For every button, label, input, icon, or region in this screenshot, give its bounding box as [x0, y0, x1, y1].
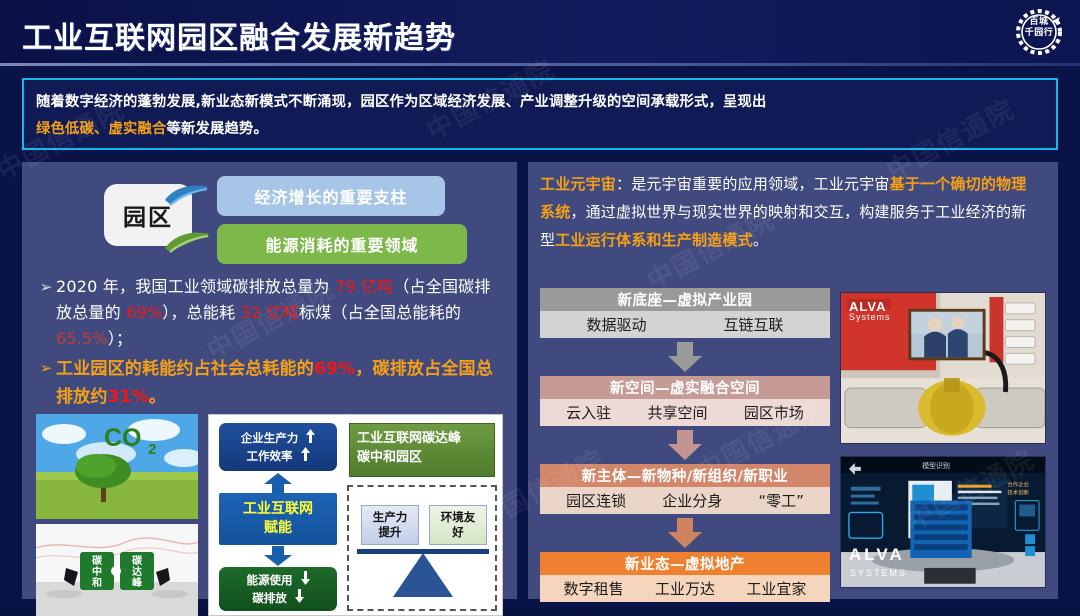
down-arrow-icon [295, 589, 304, 607]
up-arrow-icon [301, 447, 310, 465]
flow-stage-item: 园区市场 [744, 402, 804, 423]
flow-stage-item: 数据驱动 [586, 314, 646, 335]
logo-text: 百城 千园行 [1012, 17, 1066, 39]
flow-down-arrow-icon [668, 518, 702, 548]
svg-text:合作企业: 合作企业 [1007, 481, 1029, 489]
intro-callout: 随着数字经济的蓬勃发展,新业态新模式不断涌现，园区作为区域经济发展、产业调整升级… [22, 78, 1058, 150]
scale-fulcrum-icon [393, 553, 453, 597]
flow-stage-title: 新主体—新物种/新组织/新职业 [540, 464, 830, 487]
svg-text:碳: 碳 [92, 554, 103, 567]
flow-stage[interactable]: 新底座—虚拟产业园数据驱动互链互联 [540, 288, 830, 338]
flow-stage-item: 共享空间 [647, 402, 707, 423]
alva-brand-sub-top: Systems [849, 312, 891, 322]
diagram-box-iiot-enable: 工业互联网 赋能 [219, 493, 337, 545]
svg-text:技术创新: 技术创新 [1007, 489, 1029, 497]
svg-text:2: 2 [148, 441, 156, 458]
flow-down-arrow-icon [668, 430, 702, 460]
left-bullet-list: ➢ 2020 年，我国工业领域碳排放总量为 79 亿吨（占全国碳排放总量的 69… [36, 274, 506, 414]
diagram-box-productivity: 企业生产力 工作效率 [219, 423, 337, 471]
ar-valve-inspection-photo: ALVA Systems [840, 292, 1046, 444]
flow-stage[interactable]: 新业态—虚拟地产数字租售工业万达工业宜家 [540, 552, 830, 602]
intro-line-1: 随着数字经济的蓬勃发展,新业态新模式不断涌现，园区作为区域经济发展、产业调整升级… [36, 89, 1044, 116]
flow-stage-items: 云入驻共享空间园区市场 [540, 399, 830, 426]
flow-stage-item: 工业万达 [655, 578, 715, 599]
svg-text:中: 中 [92, 565, 102, 578]
flow-stage-items: 数据驱动互链互联 [540, 311, 830, 338]
intro-line-2: 绿色低碳、虚实融合等新发展趋势。 [36, 116, 1044, 143]
flow-stage[interactable]: 新主体—新物种/新组织/新职业园区连锁企业分身“零工” [540, 464, 830, 514]
alva-brand-sub-bot: SYSTEMS [850, 568, 907, 578]
bullet-text: 工业园区的耗能约占社会总耗能的69%，碳排放占全国总排放约31%。 [56, 355, 506, 411]
svg-text:CO: CO [104, 424, 142, 452]
svg-text:峰: 峰 [132, 576, 143, 589]
flow-stage-item: 互链互联 [723, 314, 783, 335]
bullet-item: ➢ 2020 年，我国工业领域碳排放总量为 79 亿吨（占全国碳排放总量的 69… [36, 274, 506, 352]
title-divider [0, 63, 1080, 66]
bullet-marker: ➢ [36, 274, 56, 352]
flow-stage-title: 新业态—虚拟地产 [540, 552, 830, 575]
green-leaf-icon [162, 228, 212, 254]
flow-stage-items: 园区连锁企业分身“零工” [540, 487, 830, 514]
tag-energy-consumption: 能源消耗的重要领域 [217, 224, 467, 264]
alva-brand-bot: ALVA [849, 545, 905, 565]
flow-stage-title: 新空间—虚实融合空间 [540, 376, 830, 399]
flow-down-arrow-icon [668, 342, 702, 372]
bullet-text: 2020 年，我国工业领域碳排放总量为 79 亿吨（占全国碳排放总量的 69%）… [56, 274, 506, 352]
carbon-puzzle-photo: 碳 中 和 碳 达 峰 [36, 524, 198, 616]
scale-box-productivity: 生产力 提升 [361, 505, 419, 545]
flow-stage-item: 数字租售 [564, 578, 624, 599]
left-panel: 园区 经济增长的重要支柱 能源消耗的重要领域 ➢ 2020 年，我国工业领域碳排… [22, 162, 517, 599]
co2-tree-photo: CO 2 [36, 414, 198, 519]
metaverse-flow-chart: 新底座—虚拟产业园数据驱动互链互联新空间—虚实融合空间云入驻共享空间园区市场新主… [540, 288, 830, 602]
flow-stage-item: 工业宜家 [746, 578, 806, 599]
ar-digital-twin-photo: 03 模型识别 合作企业 技术创新 ALVA SYSTEMS [840, 456, 1046, 588]
bullet-marker: ➢ [36, 355, 56, 411]
up-arrow-icon [306, 429, 315, 447]
balance-scale-area: 生产力 提升 环境友 好 [347, 485, 497, 611]
flow-stage-item: 企业分身 [662, 490, 722, 511]
scale-box-environment: 环境友 好 [429, 505, 487, 545]
flow-stage[interactable]: 新空间—虚实融合空间云入驻共享空间园区市场 [540, 376, 830, 426]
slide-header: 工业互联网园区融合发展新趋势 百城 千园行 [0, 0, 1080, 66]
svg-text:和: 和 [91, 576, 102, 589]
right-panel: 工业元宇宙：是元宇宙重要的应用领域，工业元宇宙基于一个确切的物理系统，通过虚拟世… [528, 162, 1058, 599]
diagram-box-green-park: 工业互联网碳达峰 碳中和园区 [349, 423, 495, 477]
flow-stage-item: 云入驻 [566, 402, 611, 423]
tag-economic-pillar: 经济增长的重要支柱 [217, 176, 445, 216]
metaverse-paragraph: 工业元宇宙：是元宇宙重要的应用领域，工业元宇宙基于一个确切的物理系统，通过虚拟世… [540, 170, 1040, 254]
brand-logo: 百城 千园行 [1012, 6, 1066, 58]
blue-leaf-icon [162, 182, 212, 208]
svg-text:模型识别: 模型识别 [922, 461, 950, 470]
svg-text:碳: 碳 [132, 554, 143, 567]
metaverse-paragraph-text: 工业元宇宙：是元宇宙重要的应用领域，工业元宇宙基于一个确切的物理系统，通过虚拟世… [540, 170, 1040, 254]
diagram-box-energy-carbon: 能源使用 碳排放 [219, 567, 337, 611]
flow-stage-items: 数字租售工业万达工业宜家 [540, 575, 830, 602]
flow-stage-item: “零工” [758, 490, 804, 511]
synergy-diagram: 企业生产力 工作效率 工业互联网 赋能 能源使用 碳排放 [208, 414, 503, 616]
page-title: 工业互联网园区融合发展新趋势 [22, 13, 456, 57]
flow-stage-item: 园区连锁 [566, 490, 626, 511]
svg-text:03: 03 [916, 487, 930, 502]
bullet-item: ➢ 工业园区的耗能约占社会总耗能的69%，碳排放占全国总排放约31%。 [36, 355, 506, 411]
svg-text:达: 达 [132, 565, 142, 578]
flow-stage-title: 新底座—虚拟产业园 [540, 288, 830, 311]
down-arrow-icon [301, 571, 310, 589]
